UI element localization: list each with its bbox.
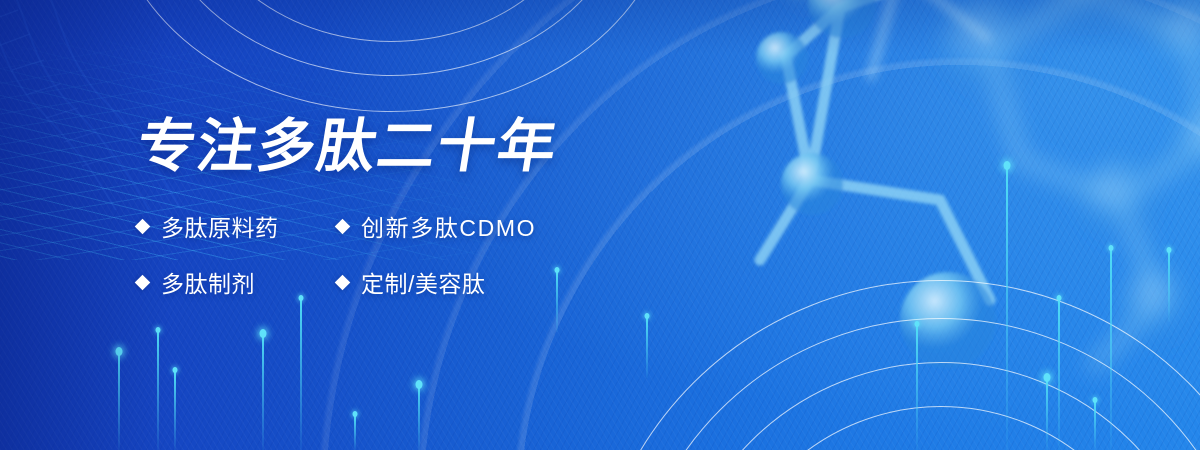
feature-label: 定制/美容肽 [361, 265, 485, 299]
arc-ring-4 [716, 406, 1166, 450]
feature-item-2[interactable]: 多肽制剂 [137, 265, 337, 299]
ring-middle [148, 0, 634, 76]
pin-marker [1168, 252, 1170, 322]
ring-inner [186, 0, 596, 42]
pin-marker [118, 352, 120, 450]
page-title: 专注多肽二十年 [133, 118, 782, 176]
feature-item-3[interactable]: 定制/美容肽 [337, 265, 773, 299]
pin-marker [262, 334, 264, 450]
diamond-bullet-icon [335, 274, 351, 290]
arc-ring-2 [628, 318, 1200, 450]
feature-item-1[interactable]: 创新多肽CDMO [337, 209, 773, 243]
pin-marker [174, 372, 176, 450]
pin-marker [157, 332, 159, 450]
pin-marker [354, 416, 356, 450]
pin-marker [300, 300, 302, 450]
diamond-bullet-icon [135, 218, 151, 234]
arc-ring-1 [590, 280, 1200, 450]
feature-item-0[interactable]: 多肽原料药 [137, 209, 337, 243]
pin-marker [1094, 402, 1096, 450]
pin-marker [916, 326, 918, 450]
diamond-bullet-icon [335, 218, 351, 234]
arc-ring-3 [672, 362, 1200, 450]
banner-content: 专注多肽二十年 多肽原料药 创新多肽CDMO 多肽制剂 定制/美容肽 [133, 118, 773, 299]
pin-marker [1046, 378, 1048, 450]
pin-marker [1110, 250, 1112, 450]
pin-marker [418, 385, 420, 450]
feature-label: 多肽制剂 [161, 265, 255, 299]
feature-label: 多肽原料药 [161, 209, 279, 243]
pin-marker [646, 318, 648, 378]
pin-marker [1006, 166, 1008, 450]
hero-banner: 专注多肽二十年 多肽原料药 创新多肽CDMO 多肽制剂 定制/美容肽 [0, 0, 1200, 450]
feature-label: 创新多肽CDMO [361, 209, 536, 243]
ring-outer [110, 0, 672, 112]
pin-marker [1058, 300, 1060, 450]
diamond-bullet-icon [135, 274, 151, 290]
feature-list: 多肽原料药 创新多肽CDMO 多肽制剂 定制/美容肽 [137, 209, 773, 299]
